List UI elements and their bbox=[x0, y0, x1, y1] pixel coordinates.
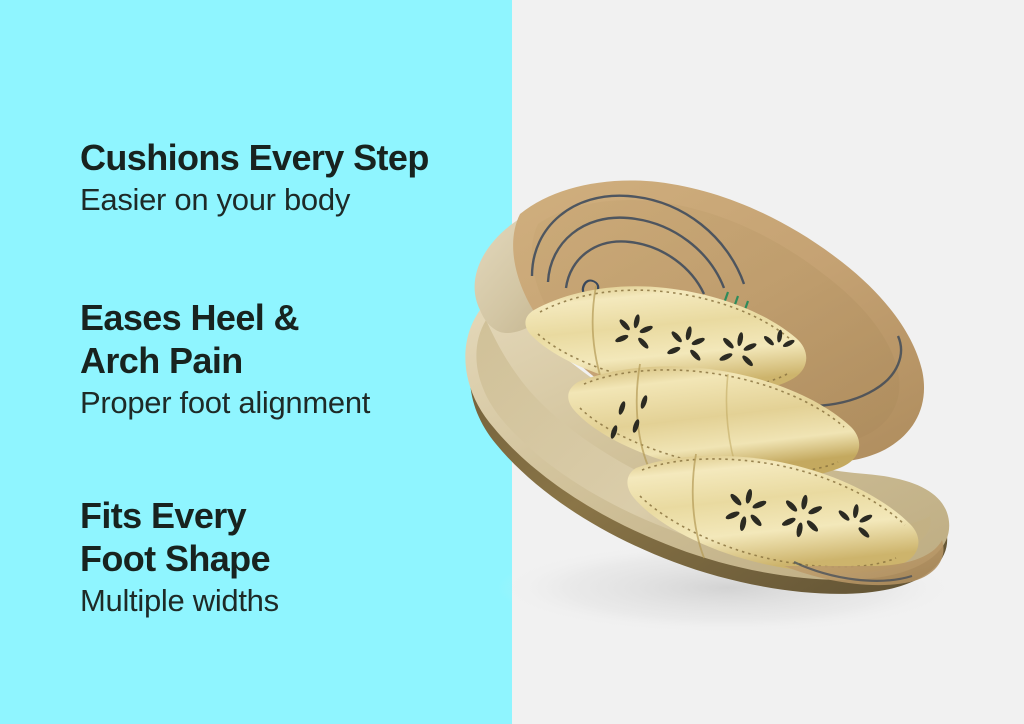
benefit-subtext: Proper foot alignment bbox=[80, 384, 510, 422]
right-product-panel bbox=[512, 0, 1024, 724]
benefit-heading: Eases Heel & Arch Pain bbox=[80, 296, 510, 382]
product-benefits-banner: Cushions Every Step Easier on your body … bbox=[0, 0, 1024, 724]
benefit-item-eases-heel-and-arch-pain: Eases Heel & Arch Pain Proper foot align… bbox=[80, 296, 510, 422]
benefits-copy-block: Cushions Every Step Easier on your body … bbox=[80, 0, 500, 724]
benefit-subtext: Multiple widths bbox=[80, 582, 510, 620]
benefit-item-cushions-every-step: Cushions Every Step Easier on your body bbox=[80, 136, 510, 219]
benefit-heading: Fits Every Foot Shape bbox=[80, 494, 510, 580]
benefit-item-fits-every-foot-shape: Fits Every Foot Shape Multiple widths bbox=[80, 494, 510, 620]
benefit-heading: Cushions Every Step bbox=[80, 136, 510, 179]
benefit-subtext: Easier on your body bbox=[80, 181, 510, 219]
